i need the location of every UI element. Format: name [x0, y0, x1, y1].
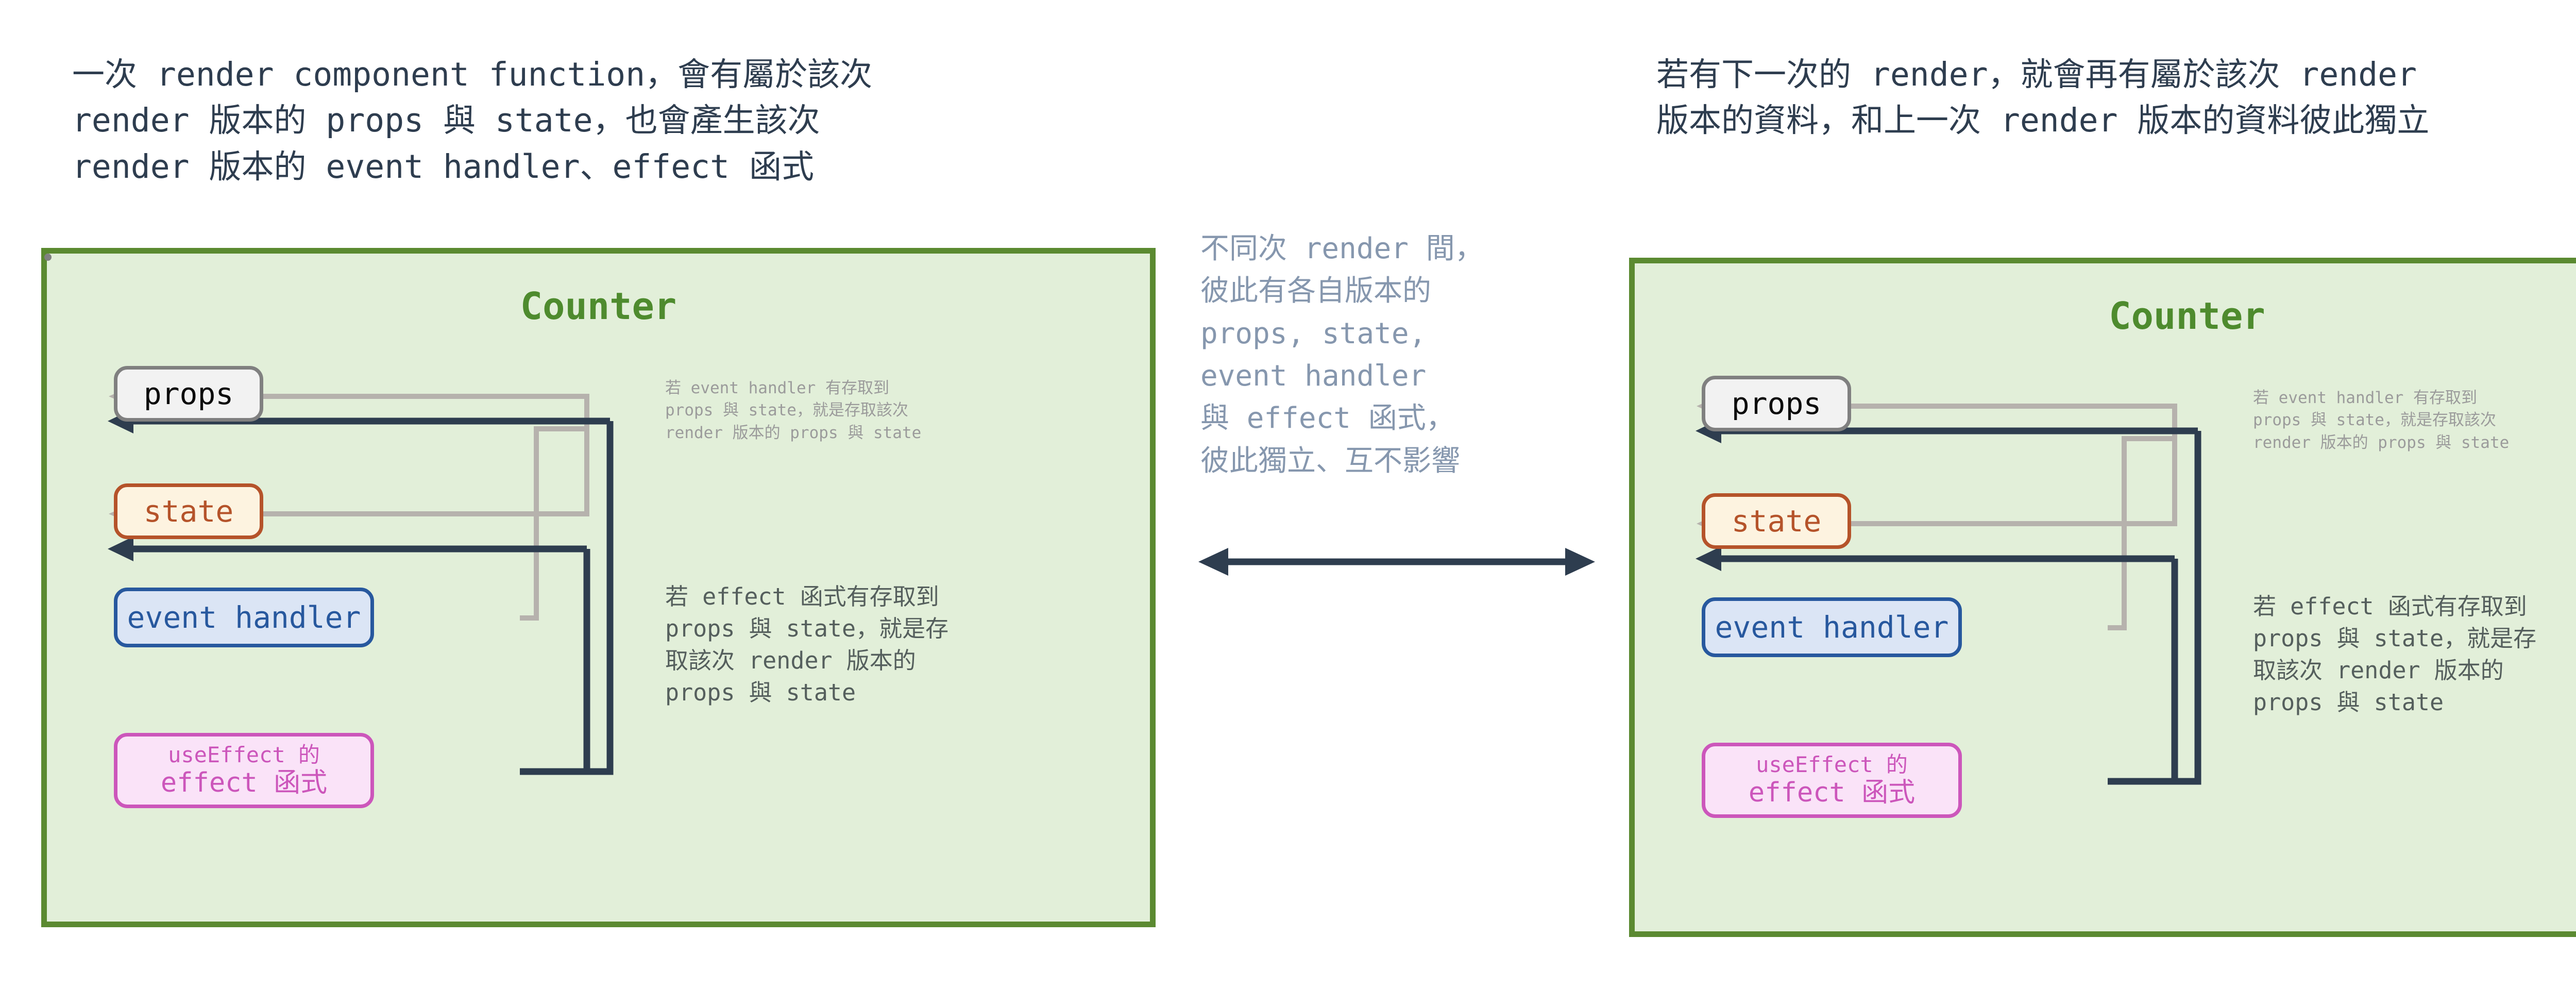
- headline-right: 若有下一次的 render，就會再有屬於該次 render 版本的資料，和上一次…: [1656, 52, 2576, 144]
- effect-label-line1: useEffect 的: [1756, 752, 1908, 778]
- effect-label-line2: effect 函式: [161, 767, 327, 799]
- effect-label-line2: effect 函式: [1749, 777, 1915, 809]
- center-explanation-note: 不同次 render 間， 彼此有各自版本的 props, state, eve…: [1200, 228, 1607, 482]
- node-event-handler[interactable]: event handler: [114, 588, 374, 647]
- note-effect-left: 若 effect 函式有存取到 props 與 state，就是存 取該次 re…: [665, 581, 1129, 709]
- headline-left: 一次 render component function，會有屬於該次 rend…: [72, 52, 1164, 190]
- node-props[interactable]: props: [114, 366, 263, 422]
- note-event-handler-right: 若 event handler 有存取到 props 與 state，就是存取該…: [2253, 387, 2576, 454]
- note-effect-right: 若 effect 函式有存取到 props 與 state，就是存 取該次 re…: [2253, 591, 2576, 718]
- node-event-handler[interactable]: event handler: [1702, 597, 1962, 657]
- double-headed-arrow-icon: [1198, 547, 1595, 576]
- node-state[interactable]: state: [114, 483, 263, 539]
- effect-label-line1: useEffect 的: [168, 742, 320, 768]
- node-use-effect[interactable]: useEffect 的 effect 函式: [114, 733, 374, 808]
- node-props-left[interactable]: [44, 254, 52, 261]
- note-event-handler-left: 若 event handler 有存取到 props 與 state，就是存取該…: [665, 377, 1124, 444]
- node-state[interactable]: state: [1702, 493, 1851, 549]
- panel-title-right: Counter: [1635, 294, 2576, 338]
- node-use-effect[interactable]: useEffect 的 effect 函式: [1702, 743, 1962, 818]
- node-props[interactable]: props: [1702, 376, 1851, 431]
- counter-panel-render-2: Counter props state event handler useEff…: [1629, 258, 2576, 937]
- counter-panel-render-1: Counter props state event handler useEff…: [41, 248, 1156, 927]
- panel-title-left: Counter: [47, 285, 1150, 328]
